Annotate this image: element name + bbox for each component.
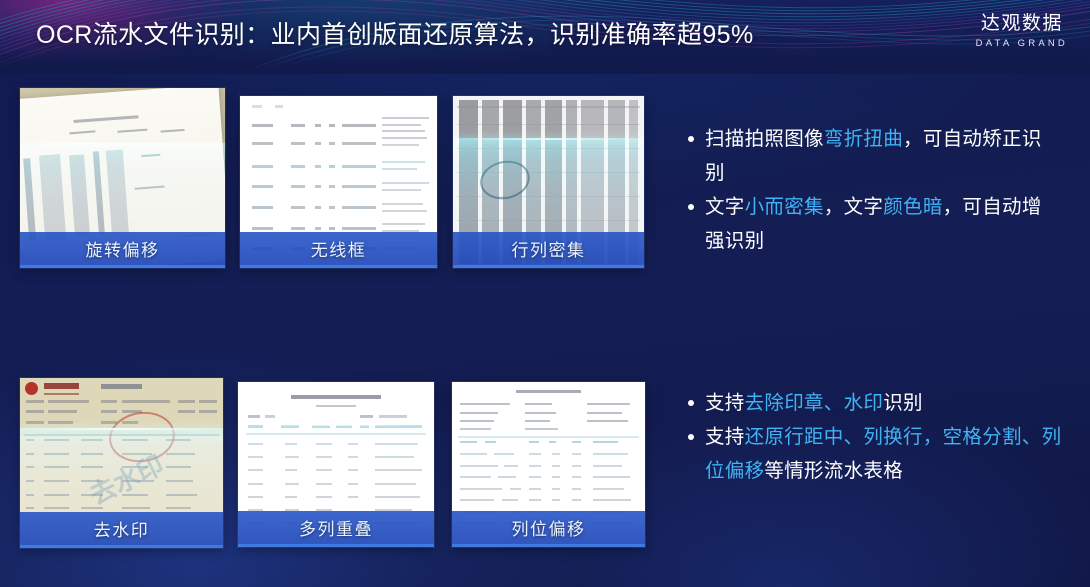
- bullet-segment: 支持: [705, 426, 745, 448]
- bullet-segment: 等情形流水表格: [764, 460, 903, 482]
- bullet-group-top: 扫描拍照图像弯折扭曲，可自动矫正识别 文字小而密集，文字颜色暗，可自动增强识别: [686, 122, 1060, 258]
- bullet-segment: 去除印章、水印: [745, 392, 884, 414]
- card-caption: 旋转偏移: [20, 232, 225, 268]
- bullet-restore-layout: 支持还原行距中、列换行，空格分割、列位偏移等情形流水表格: [686, 420, 1066, 488]
- card-column-overlap[interactable]: 多列重叠: [238, 382, 434, 547]
- card-dense-grid[interactable]: 行列密集: [453, 96, 644, 268]
- card-caption-label: 列位偏移: [512, 515, 586, 540]
- card-caption: 列位偏移: [452, 511, 645, 547]
- bullet-segment: 识别: [883, 392, 923, 414]
- card-caption: 多列重叠: [238, 511, 434, 547]
- card-rotation-offset[interactable]: 旋转偏移: [20, 88, 225, 268]
- card-caption: 无线框: [240, 232, 437, 268]
- card-caption-label: 行列密集: [512, 236, 586, 261]
- card-column-shift[interactable]: 列位偏移: [452, 382, 645, 547]
- bullet-distortion: 扫描拍照图像弯折扭曲，可自动矫正识别: [686, 122, 1060, 190]
- bullet-segment: ，文字: [824, 196, 883, 218]
- brand-logo: 达观数据 DATA GRAND: [976, 12, 1068, 51]
- logo-text-cn: 达观数据: [976, 12, 1068, 36]
- page-title: OCR流水文件识别：业内首创版面还原算法，识别准确率超95%: [36, 18, 754, 52]
- bullet-segment: 支持: [705, 392, 745, 414]
- bullet-segment: 小而密集: [745, 196, 824, 218]
- bullet-segment: 扫描拍照图像: [705, 128, 824, 150]
- bullet-segment: 弯折扭曲: [824, 128, 903, 150]
- bullet-stamp-watermark: 支持去除印章、水印识别: [686, 386, 1066, 420]
- logo-text-en: DATA GRAND: [976, 37, 1068, 51]
- bullet-segment: 颜色暗: [883, 196, 942, 218]
- card-caption-label: 无线框: [311, 236, 367, 261]
- bullet-segment: 文字: [705, 196, 745, 218]
- card-caption-label: 旋转偏移: [86, 236, 160, 261]
- card-caption-label: 去水印: [94, 516, 150, 541]
- bullet-small-dense: 文字小而密集，文字颜色暗，可自动增强识别: [686, 190, 1060, 258]
- bullet-group-bottom: 支持去除印章、水印识别 支持还原行距中、列换行，空格分割、列位偏移等情形流水表格: [686, 386, 1066, 488]
- card-caption: 去水印: [20, 512, 223, 548]
- card-caption: 行列密集: [453, 232, 644, 268]
- slide-root: OCR流水文件识别：业内首创版面还原算法，识别准确率超95% 达观数据 DATA…: [0, 0, 1090, 587]
- card-remove-watermark[interactable]: 去水印 去水印: [20, 378, 223, 548]
- card-borderless[interactable]: 无线框: [240, 96, 437, 268]
- card-caption-label: 多列重叠: [299, 515, 373, 540]
